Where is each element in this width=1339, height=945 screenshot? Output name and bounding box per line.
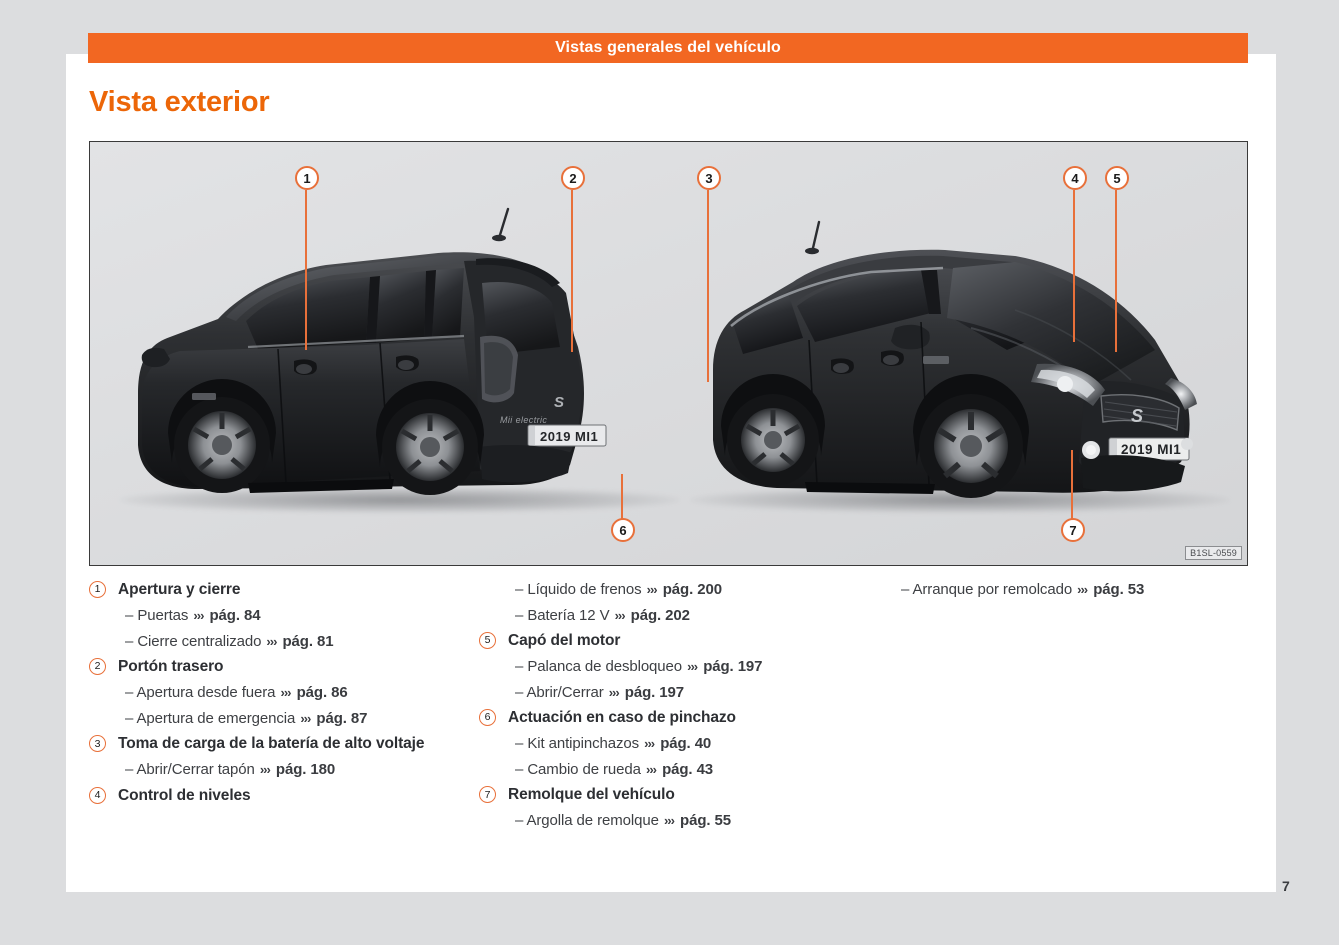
sub-page-ref: pág. 40	[660, 735, 711, 752]
legend-entry-title-3: Toma de carga de la batería de alto volt…	[118, 734, 458, 760]
sub-dash: –	[125, 710, 133, 727]
sub-label: Apertura de emergencia	[137, 710, 296, 727]
figure-stage: Mii electric S 2019 MI1	[90, 142, 1247, 565]
sub-label: Palanca de desbloqueo	[527, 658, 682, 675]
chevron-icon: ›››	[265, 634, 278, 649]
sub-label: Abrir/Cerrar	[527, 684, 604, 701]
chevron-icon: ›››	[663, 813, 676, 828]
sub-label: Cambio de rueda	[527, 761, 641, 778]
page-number: 7	[1282, 878, 1290, 894]
sub-dash: –	[125, 761, 133, 778]
legend-number-badge-2: 2	[89, 658, 106, 675]
legend-number-badge-6: 6	[479, 709, 496, 726]
legend-sub-item[interactable]: – Kit antipinchazos ››› pág. 40	[515, 734, 899, 760]
legend-number-badge-3: 3	[89, 735, 106, 752]
chevron-icon: ›››	[614, 608, 627, 623]
chevron-icon: ›››	[686, 659, 699, 674]
callout-marker-1[interactable]: 1	[295, 166, 319, 190]
sub-page-ref: pág. 197	[703, 658, 762, 675]
callout-marker-2[interactable]: 2	[561, 166, 585, 190]
legend-sub-item[interactable]: – Argolla de remolque ››› pág. 55	[515, 811, 899, 837]
sub-dash: –	[515, 607, 523, 624]
chevron-icon: ›››	[192, 608, 205, 623]
legend-column-2: – Líquido de frenos ››› pág. 200 – Bater…	[479, 580, 899, 837]
sub-dash: –	[515, 735, 523, 752]
leader-line-4	[1073, 190, 1075, 342]
sub-page-ref: pág. 55	[680, 812, 731, 829]
legend-column-3: – Arranque por remolcado ››› pág. 53	[901, 580, 1249, 606]
legend-sub-item[interactable]: – Cambio de rueda ››› pág. 43	[515, 760, 899, 786]
sub-page-ref: pág. 200	[663, 581, 722, 598]
callout-marker-3[interactable]: 3	[697, 166, 721, 190]
legend-number-badge-7: 7	[479, 786, 496, 803]
legend-entry-title-6: Actuación en caso de pinchazo	[508, 708, 899, 734]
legend-entry-title-2: Portón trasero	[118, 657, 489, 683]
sub-page-ref: pág. 197	[625, 684, 684, 701]
sub-page-ref: pág. 202	[631, 607, 690, 624]
leader-line-6	[621, 474, 623, 520]
sub-dash: –	[515, 658, 523, 675]
chevron-icon: ›››	[280, 685, 293, 700]
page-title: Vista exterior	[89, 86, 269, 119]
legend-number-badge-5: 5	[479, 632, 496, 649]
callout-marker-4[interactable]: 4	[1063, 166, 1087, 190]
legend-sub-item[interactable]: – Puertas ››› pág. 84	[125, 606, 489, 632]
sub-dash: –	[515, 684, 523, 701]
legend-sub-item[interactable]: – Batería 12 V ››› pág. 202	[515, 606, 899, 632]
sub-label: Argolla de remolque	[527, 812, 659, 829]
chevron-icon: ›››	[643, 736, 656, 751]
svg-text:S: S	[1131, 406, 1143, 426]
sub-page-ref: pág. 86	[297, 684, 348, 701]
svg-text:2019 MI1: 2019 MI1	[1121, 442, 1181, 457]
figure-code-label: B1SL-0559	[1185, 546, 1242, 560]
exterior-view-figure: Mii electric S 2019 MI1	[89, 141, 1248, 566]
sub-dash: –	[515, 812, 523, 829]
sub-label: Apertura desde fuera	[137, 684, 276, 701]
legend-entry-title-1: Apertura y cierre	[118, 580, 489, 606]
legend-sub-item[interactable]: – Líquido de frenos ››› pág. 200	[515, 580, 899, 606]
legend-sub-item[interactable]: – Cierre centralizado ››› pág. 81	[125, 632, 489, 658]
sub-dash: –	[901, 581, 909, 598]
sub-dash: –	[515, 581, 523, 598]
callout-marker-7[interactable]: 7	[1061, 518, 1085, 542]
legend-entry-title-7: Remolque del vehículo	[508, 785, 899, 811]
legend-sub-item[interactable]: – Apertura de emergencia ››› pág. 87	[125, 709, 489, 735]
legend-sub-item[interactable]: – Abrir/Cerrar ››› pág. 197	[515, 683, 899, 709]
sub-dash: –	[515, 761, 523, 778]
svg-text:Mii electric: Mii electric	[500, 415, 547, 425]
chevron-icon: ›››	[608, 685, 621, 700]
legend-entry-2: 2 Portón trasero – Apertura desde fuera …	[89, 657, 489, 734]
chevron-icon: ›››	[259, 762, 272, 777]
sub-page-ref: pág. 43	[662, 761, 713, 778]
legend-entry-1: 1 Apertura y cierre – Puertas ››› pág. 8…	[89, 580, 489, 657]
leader-line-5	[1115, 190, 1117, 352]
chevron-icon: ›››	[1076, 582, 1089, 597]
sub-label: Cierre centralizado	[137, 633, 261, 650]
sub-page-ref: pág. 84	[209, 607, 260, 624]
sub-page-ref: pág. 180	[276, 761, 335, 778]
legend-entry-5: 5 Capó del motor – Palanca de desbloqueo…	[479, 631, 899, 708]
legend-sub-item[interactable]: – Palanca de desbloqueo ››› pág. 197	[515, 657, 899, 683]
sub-label: Kit antipinchazos	[527, 735, 639, 752]
legend-sub-item[interactable]: – Abrir/Cerrar tapón ››› pág. 180	[125, 760, 489, 786]
leader-line-7	[1071, 450, 1073, 520]
sub-label: Abrir/Cerrar tapón	[137, 761, 255, 778]
legend-entry-3: 3 Toma de carga de la batería de alto vo…	[89, 734, 489, 786]
legend-sub-item[interactable]: – Apertura desde fuera ››› pág. 86	[125, 683, 489, 709]
svg-text:S: S	[554, 394, 564, 411]
legend-entry-title-5: Capó del motor	[508, 631, 899, 657]
running-head-title: Vistas generales del vehículo	[555, 39, 781, 57]
sub-label: Puertas	[137, 607, 188, 624]
callout-marker-5[interactable]: 5	[1105, 166, 1129, 190]
left-vehicle-image: Mii electric S 2019 MI1	[108, 197, 688, 537]
sub-dash: –	[125, 684, 133, 701]
chevron-icon: ›››	[645, 762, 658, 777]
running-head-bar: Vistas generales del vehículo	[88, 33, 1248, 63]
chevron-icon: ›››	[299, 711, 312, 726]
legend-entry-title-4: Control de niveles	[118, 786, 489, 812]
sub-dash: –	[125, 607, 133, 624]
svg-text:2019 MI1: 2019 MI1	[540, 429, 598, 444]
leader-line-1	[305, 190, 307, 350]
sub-page-ref: pág. 53	[1093, 581, 1144, 598]
chevron-icon: ›››	[646, 582, 659, 597]
sub-page-ref: pág. 87	[316, 710, 367, 727]
legend-number-badge-1: 1	[89, 581, 106, 598]
legend: 1 Apertura y cierre – Puertas ››› pág. 8…	[89, 580, 1249, 880]
right-vehicle-image: S 2019 MI1	[685, 200, 1245, 540]
legend-entry-6: 6 Actuación en caso de pinchazo – Kit an…	[479, 708, 899, 785]
sub-label: Batería 12 V	[527, 607, 609, 624]
leader-line-2	[571, 190, 573, 352]
callout-marker-6[interactable]: 6	[611, 518, 635, 542]
leader-line-3	[707, 190, 709, 382]
legend-column-1: 1 Apertura y cierre – Puertas ››› pág. 8…	[89, 580, 489, 812]
sub-page-ref: pág. 81	[282, 633, 333, 650]
sub-label: Arranque por remolcado	[913, 581, 1073, 598]
sub-label: Líquido de frenos	[527, 581, 641, 598]
legend-entry-7: 7 Remolque del vehículo – Argolla de rem…	[479, 785, 899, 837]
legend-number-badge-4: 4	[89, 787, 106, 804]
legend-entry-4: 4 Control de niveles	[89, 786, 489, 812]
legend-sub-item[interactable]: – Arranque por remolcado ››› pág. 53	[901, 580, 1249, 606]
sub-dash: –	[125, 633, 133, 650]
